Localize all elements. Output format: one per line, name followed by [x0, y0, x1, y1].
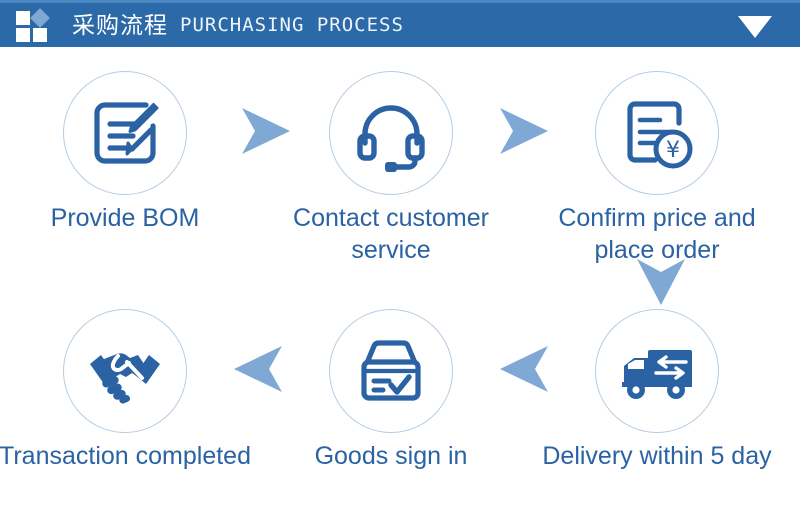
step-icon-circle: ¥ — [595, 71, 719, 195]
document-pencil-icon — [83, 91, 167, 175]
step-icon-circle — [63, 71, 187, 195]
step-icon-circle — [329, 309, 453, 433]
arrow-down-icon — [633, 253, 689, 311]
package-check-icon — [349, 329, 433, 413]
flow-step-delivery-within-5-day[interactable]: Delivery within 5 day — [524, 309, 790, 472]
flow-step-confirm-price-place-order[interactable]: ¥ Confirm price and place order — [524, 71, 790, 266]
purchasing-process-page: 采购流程 PURCHASING PROCESS — [0, 0, 800, 521]
flow-step-provide-bom[interactable]: Provide BOM — [0, 71, 258, 234]
headset-icon — [349, 91, 433, 175]
delivery-truck-icon — [614, 328, 700, 414]
page-header: 采购流程 PURCHASING PROCESS — [0, 0, 800, 47]
step-icon-circle — [63, 309, 187, 433]
step-label: Contact customer service — [258, 202, 524, 266]
flow-step-contact-customer-service[interactable]: Contact customer service — [258, 71, 524, 266]
logo-square-bottom-right — [33, 28, 47, 42]
page-title-english: PURCHASING PROCESS — [180, 16, 404, 35]
step-label: Provide BOM — [0, 202, 258, 234]
step-icon-circle — [329, 71, 453, 195]
flow-step-transaction-completed[interactable]: Transaction completed — [0, 309, 258, 472]
step-label: Transaction completed — [0, 440, 258, 472]
invoice-yen-icon: ¥ — [615, 91, 699, 175]
svg-text:¥: ¥ — [666, 138, 680, 163]
step-icon-circle — [595, 309, 719, 433]
page-title-chinese: 采购流程 — [72, 14, 168, 37]
triangle-down-icon[interactable] — [738, 16, 772, 38]
process-flow: Provide BOM Contact — [0, 47, 800, 521]
four-square-logo-icon — [14, 8, 56, 42]
step-label: Goods sign in — [258, 440, 524, 472]
step-label: Delivery within 5 day — [524, 440, 790, 472]
handshake-icon — [82, 328, 168, 414]
logo-square-bottom-left — [16, 28, 30, 42]
logo-square-top-left — [16, 11, 30, 25]
logo-diamond-top-right — [30, 8, 50, 28]
flow-step-goods-sign-in[interactable]: Goods sign in — [258, 309, 524, 472]
